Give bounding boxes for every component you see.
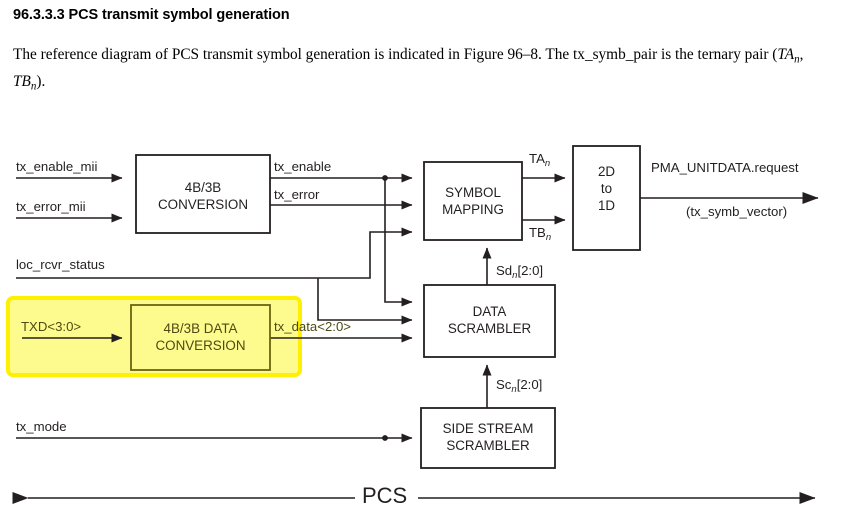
annotation-ta-subscript: n bbox=[545, 158, 550, 169]
block-side-stream-scrambler: SIDE STREAM SCRAMBLER bbox=[421, 420, 555, 454]
signal-label-tx-error: tx_error bbox=[274, 188, 319, 201]
annotation-ta-n: TAn bbox=[529, 152, 550, 169]
annotation-tb-subscript: n bbox=[546, 232, 551, 243]
signal-label-tx-mode: tx_mode bbox=[16, 420, 67, 433]
signal-label-loc-rcvr-status: loc_rcvr_status bbox=[16, 258, 105, 271]
annotation-sc-bits: [2:0] bbox=[517, 377, 543, 392]
signal-label-txd: TXD<3:0> bbox=[21, 320, 81, 333]
annotation-tb-n: TBn bbox=[529, 226, 551, 243]
scope-label-pcs: PCS bbox=[362, 483, 407, 509]
annotation-sd-n: Sdn[2:0] bbox=[496, 264, 543, 281]
annotation-sd-base: Sd bbox=[496, 263, 512, 278]
signal-label-tx-data: tx_data<2:0> bbox=[274, 320, 351, 333]
signal-label-tx-error-mii: tx_error_mii bbox=[16, 200, 86, 213]
block-4b3b-conversion: 4B/3B CONVERSION bbox=[136, 179, 270, 213]
block-symbol-mapping: SYMBOL MAPPING bbox=[424, 184, 522, 218]
annotation-tb-base: TB bbox=[529, 225, 546, 240]
signal-label-tx-symb-vector: (tx_symb_vector) bbox=[686, 205, 787, 218]
signal-label-tx-enable: tx_enable bbox=[274, 160, 331, 173]
block-2d-to-1d: 2D to 1D bbox=[573, 163, 640, 214]
annotation-ta-base: TA bbox=[529, 151, 545, 166]
annotation-sc-n: Scn[2:0] bbox=[496, 378, 542, 395]
block-4b3b-data-conversion: 4B/3B DATA CONVERSION bbox=[131, 320, 270, 354]
block-data-scrambler: DATA SCRAMBLER bbox=[424, 303, 555, 337]
annotation-sc-base: Sc bbox=[496, 377, 511, 392]
signal-label-pma-unitdata-request: PMA_UNITDATA.request bbox=[651, 161, 799, 174]
annotation-sd-bits: [2:0] bbox=[517, 263, 543, 278]
signal-label-tx-enable-mii: tx_enable_mii bbox=[16, 160, 97, 173]
